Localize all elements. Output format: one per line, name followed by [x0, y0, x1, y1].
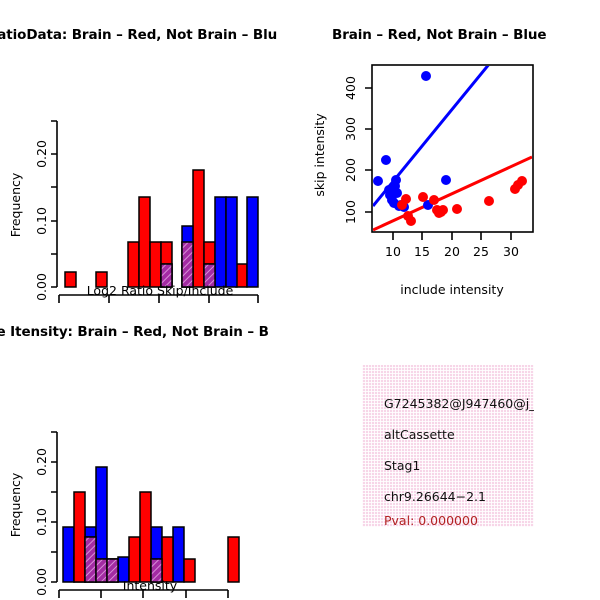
svg-text:200: 200	[343, 158, 358, 182]
event-info-box: G7245382@J947460@j_ altCassette Stag1 ch…	[362, 365, 534, 527]
info-pval: Pval: 0.000000	[384, 513, 478, 527]
svg-text:30: 30	[503, 244, 519, 259]
info-locus: chr9.26644−2.1	[384, 489, 486, 504]
info-gene: Stag1	[384, 458, 420, 473]
intensity-hist-title: ne Itensity: Brain – Red, Not Brain – B	[0, 324, 269, 340]
svg-text:100: 100	[343, 200, 358, 224]
scatter-x-ticklabels: 10 15 20 25 30	[385, 244, 519, 259]
scatter-svg: 400 300 200 100 10 15 20 25 30 include i…	[300, 55, 600, 305]
svg-text:15: 15	[414, 244, 430, 259]
info-event-id: G7245382@J947460@j_	[384, 396, 534, 411]
ratio-hist-xlabel: Log2 Ratio Skip/Include	[87, 283, 234, 298]
intensity-hist-ylabel: Frequency	[8, 472, 23, 537]
svg-text:25: 25	[473, 244, 489, 259]
scatter-y-ticks	[365, 88, 372, 212]
scatter-ylabel: skip intensity	[312, 113, 327, 197]
scatter-xlabel: include intensity	[400, 282, 504, 297]
ratio-hist-title: RatioData: Brain – Red, Not Brain – Blu	[0, 27, 277, 43]
scatter-x-ticks	[393, 232, 511, 240]
svg-text:400: 400	[343, 76, 358, 100]
svg-text:300: 300	[343, 117, 358, 141]
ratio-hist-ylabel: Frequency	[8, 172, 23, 237]
scatter-title: Brain – Red, Not Brain – Blue	[332, 27, 546, 43]
scatter-panel: 400 300 200 100 10 15 20 25 30 include i…	[300, 55, 600, 305]
svg-text:20: 20	[444, 244, 460, 259]
info-event-type: altCassette	[384, 427, 455, 442]
scatter-points-not-brain	[373, 71, 451, 212]
svg-text:10: 10	[385, 244, 401, 259]
intensity-hist-xlabel: Intensity	[123, 578, 178, 593]
scatter-y-ticklabels: 400 300 200 100	[343, 76, 358, 224]
